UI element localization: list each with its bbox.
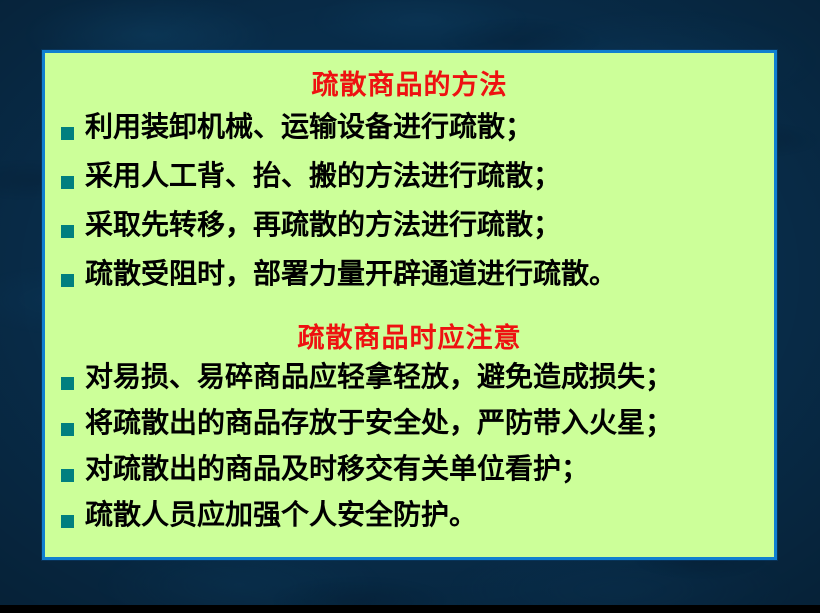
list-item-label: 将疏散出的商品存放于安全处，严防带入火星； bbox=[85, 409, 673, 437]
square-bullet-icon bbox=[61, 469, 74, 482]
section-heading-cautions: 疏散商品时应注意 bbox=[45, 325, 774, 352]
list-item-label: 采取先转移，再疏散的方法进行疏散； bbox=[85, 211, 561, 239]
square-bullet-icon bbox=[61, 274, 74, 287]
square-bullet-icon bbox=[61, 176, 74, 189]
list-item[interactable]: 对疏散出的商品及时移交有关单位看护； bbox=[45, 455, 774, 501]
list-item[interactable]: 疏散人员应加强个人安全防护。 bbox=[45, 501, 774, 547]
list-item[interactable]: 对易损、易碎商品应轻拿轻放，避免造成损失； bbox=[45, 363, 774, 409]
list-item-label: 疏散人员应加强个人安全防护。 bbox=[85, 501, 477, 529]
square-bullet-icon bbox=[61, 515, 74, 528]
list-item-label: 对疏散出的商品及时移交有关单位看护； bbox=[85, 455, 589, 483]
square-bullet-icon bbox=[61, 377, 74, 390]
list-item-label: 对易损、易碎商品应轻拿轻放，避免造成损失； bbox=[85, 363, 673, 391]
square-bullet-icon bbox=[61, 127, 74, 140]
list-item-label: 利用装卸机械、运输设备进行疏散； bbox=[85, 113, 533, 141]
bullet-list-methods: 利用装卸机械、运输设备进行疏散； 采用人工背、抬、搬的方法进行疏散； 采取先转移… bbox=[45, 113, 774, 309]
list-item-label: 疏散受阻时，部署力量开辟通道进行疏散。 bbox=[85, 260, 617, 288]
bullet-list-cautions: 对易损、易碎商品应轻拿轻放，避免造成损失； 将疏散出的商品存放于安全处，严防带入… bbox=[45, 363, 774, 547]
square-bullet-icon bbox=[61, 423, 74, 436]
slide-canvas: 疏散商品的方法 利用装卸机械、运输设备进行疏散； 采用人工背、抬、搬的方法进行疏… bbox=[0, 0, 820, 613]
section-heading-methods: 疏散商品的方法 bbox=[45, 72, 774, 99]
list-item[interactable]: 利用装卸机械、运输设备进行疏散； bbox=[45, 113, 774, 162]
bottom-black-strip bbox=[0, 605, 820, 613]
list-item[interactable]: 采取先转移，再疏散的方法进行疏散； bbox=[45, 211, 774, 260]
content-panel: 疏散商品的方法 利用装卸机械、运输设备进行疏散； 采用人工背、抬、搬的方法进行疏… bbox=[42, 50, 777, 560]
list-item[interactable]: 将疏散出的商品存放于安全处，严防带入火星； bbox=[45, 409, 774, 455]
square-bullet-icon bbox=[61, 225, 74, 238]
list-item-label: 采用人工背、抬、搬的方法进行疏散； bbox=[85, 162, 561, 190]
list-item[interactable]: 疏散受阻时，部署力量开辟通道进行疏散。 bbox=[45, 260, 774, 309]
list-item[interactable]: 采用人工背、抬、搬的方法进行疏散； bbox=[45, 162, 774, 211]
